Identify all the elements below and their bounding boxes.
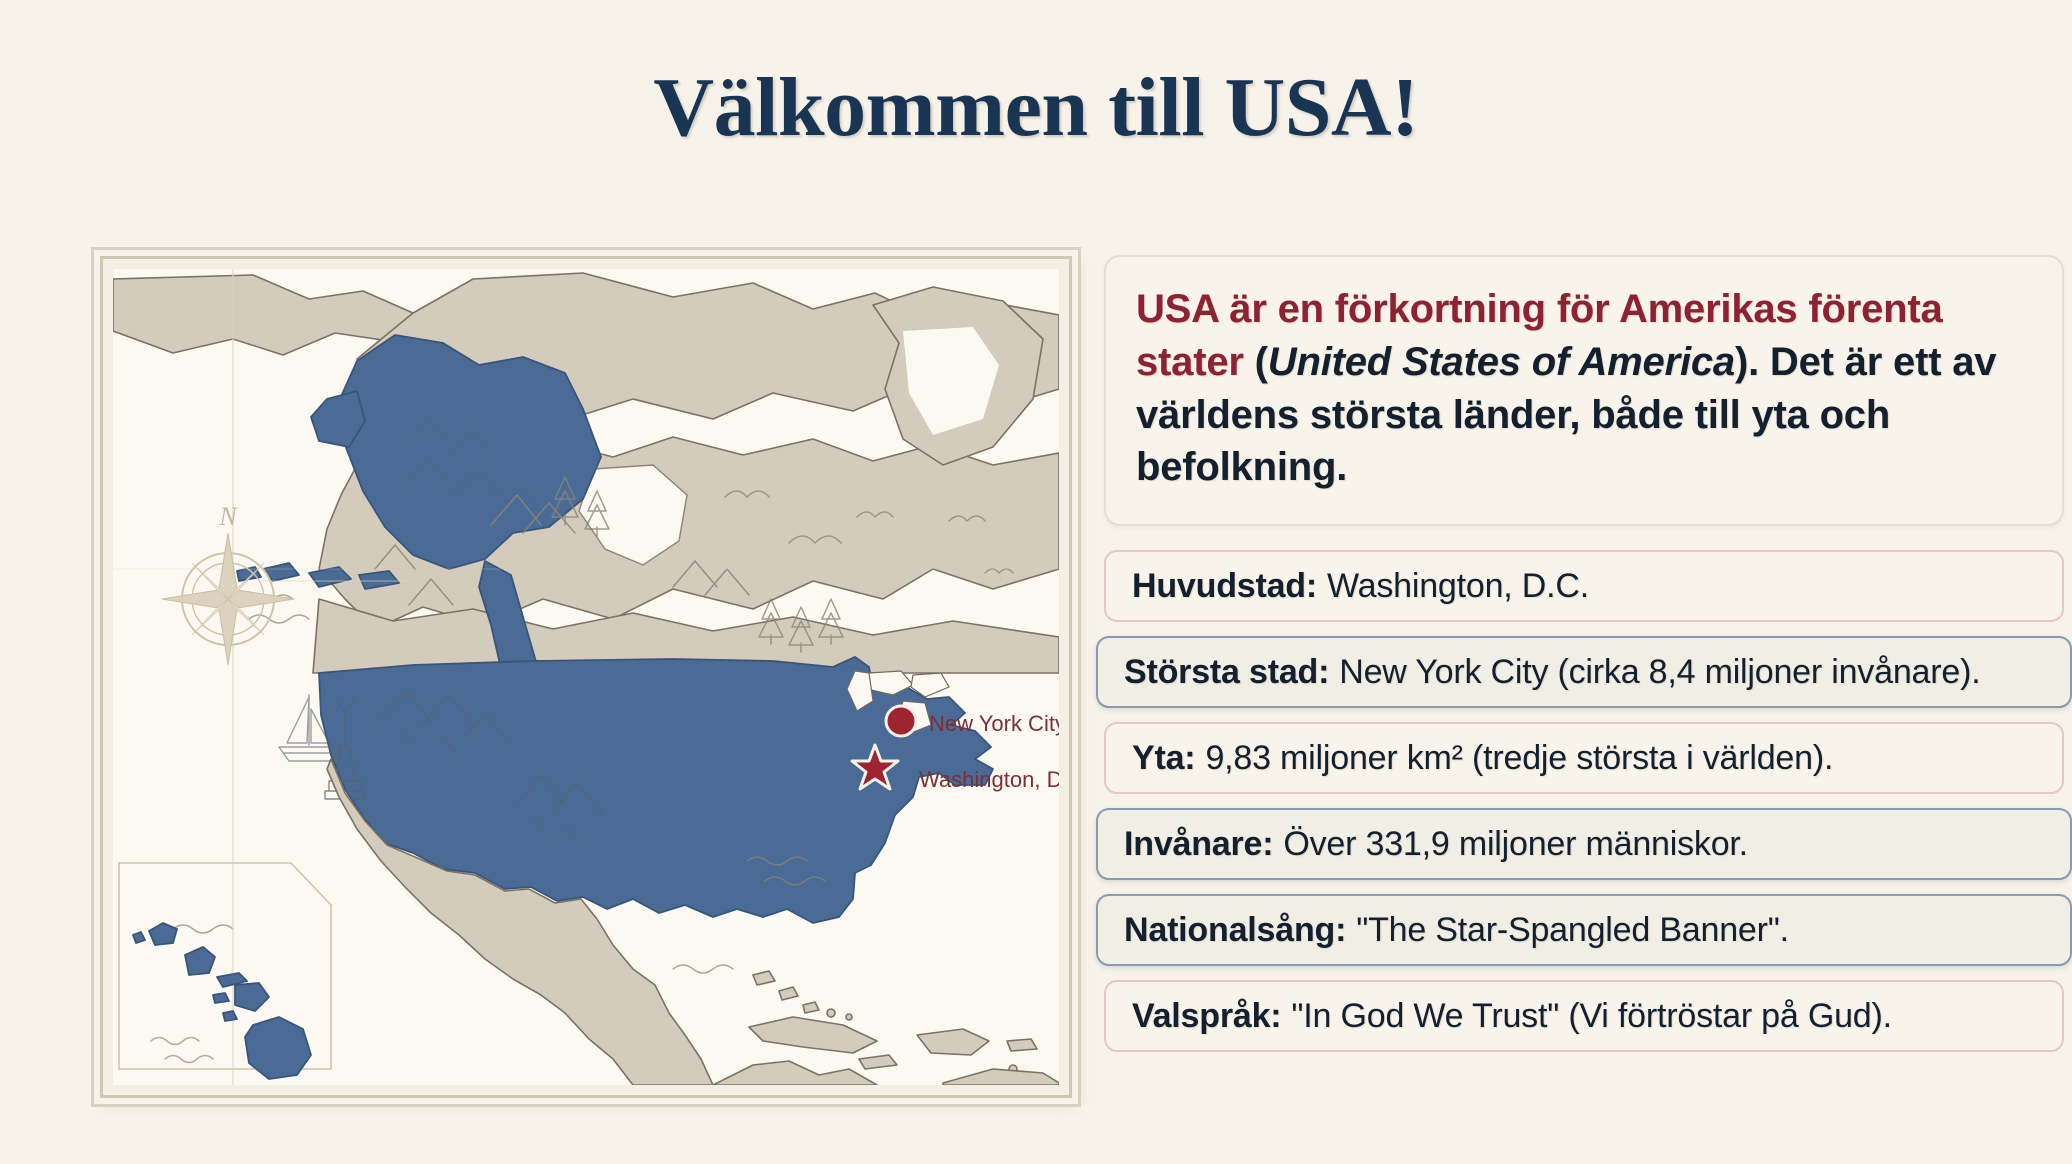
fact-value: Över 331,9 miljoner människor. (1283, 825, 1748, 864)
fact-row-nationalsang[interactable]: Nationalsång: "The Star-Spangled Banner"… (1096, 894, 2072, 966)
fact-value: "In God We Trust" (Vi förtröstar på Gud)… (1291, 997, 1891, 1036)
fact-value: New York City (cirka 8,4 miljoner invåna… (1339, 653, 1980, 692)
compass-north-label: N (218, 502, 238, 531)
fact-key: Invånare: (1124, 825, 1273, 864)
intro-text: USA är en förkortning för Amerikas fören… (1136, 283, 2032, 494)
fact-key: Huvudstad: (1132, 567, 1317, 606)
fact-value: 9,83 miljoner km² (tredje största i värl… (1205, 739, 1833, 778)
fact-row-valsprak[interactable]: Valspråk: "In God We Trust" (Vi förtröst… (1104, 980, 2064, 1052)
fact-value: Washington, D.C. (1327, 567, 1589, 606)
fact-key: Yta: (1132, 739, 1195, 778)
map-card: .ocean { fill:#fcf9f2; } .land { fill:#d… (100, 256, 1072, 1098)
fact-key: Valspråk: (1132, 997, 1281, 1036)
map-canvas: .ocean { fill:#fcf9f2; } .land { fill:#d… (113, 269, 1059, 1085)
fact-row-huvudstad[interactable]: Huvudstad: Washington, D.C. (1104, 550, 2064, 622)
facts-list: Huvudstad: Washington, D.C. Största stad… (1104, 550, 2064, 1052)
fact-key: Största stad: (1124, 653, 1329, 692)
intro-paren-open: ( (1244, 340, 1268, 384)
intro-card: USA är en förkortning för Amerikas fören… (1104, 255, 2064, 526)
page-title: Välkommen till USA! (0, 62, 2072, 154)
slide-background: Välkommen till USA! .ocean { fill:#fcf9f… (0, 0, 2072, 1164)
north-america-map: .ocean { fill:#fcf9f2; } .land { fill:#d… (113, 269, 1059, 1085)
fact-value: "The Star-Spangled Banner". (1356, 911, 1789, 950)
intro-italic: United States of America (1268, 340, 1735, 384)
map-label-new-york-city: New York City (929, 711, 1059, 736)
map-label-washington-dc: Washington, D.C. (919, 767, 1059, 792)
circle-marker-new-york-city[interactable] (886, 706, 916, 736)
fact-key: Nationalsång: (1124, 911, 1346, 950)
fact-row-yta[interactable]: Yta: 9,83 miljoner km² (tredje största i… (1104, 722, 2064, 794)
fact-row-storsta-stad[interactable]: Största stad: New York City (cirka 8,4 m… (1096, 636, 2072, 708)
info-column: USA är en förkortning för Amerikas fören… (1104, 255, 2064, 1066)
fact-row-invanare[interactable]: Invånare: Över 331,9 miljoner människor. (1096, 808, 2072, 880)
